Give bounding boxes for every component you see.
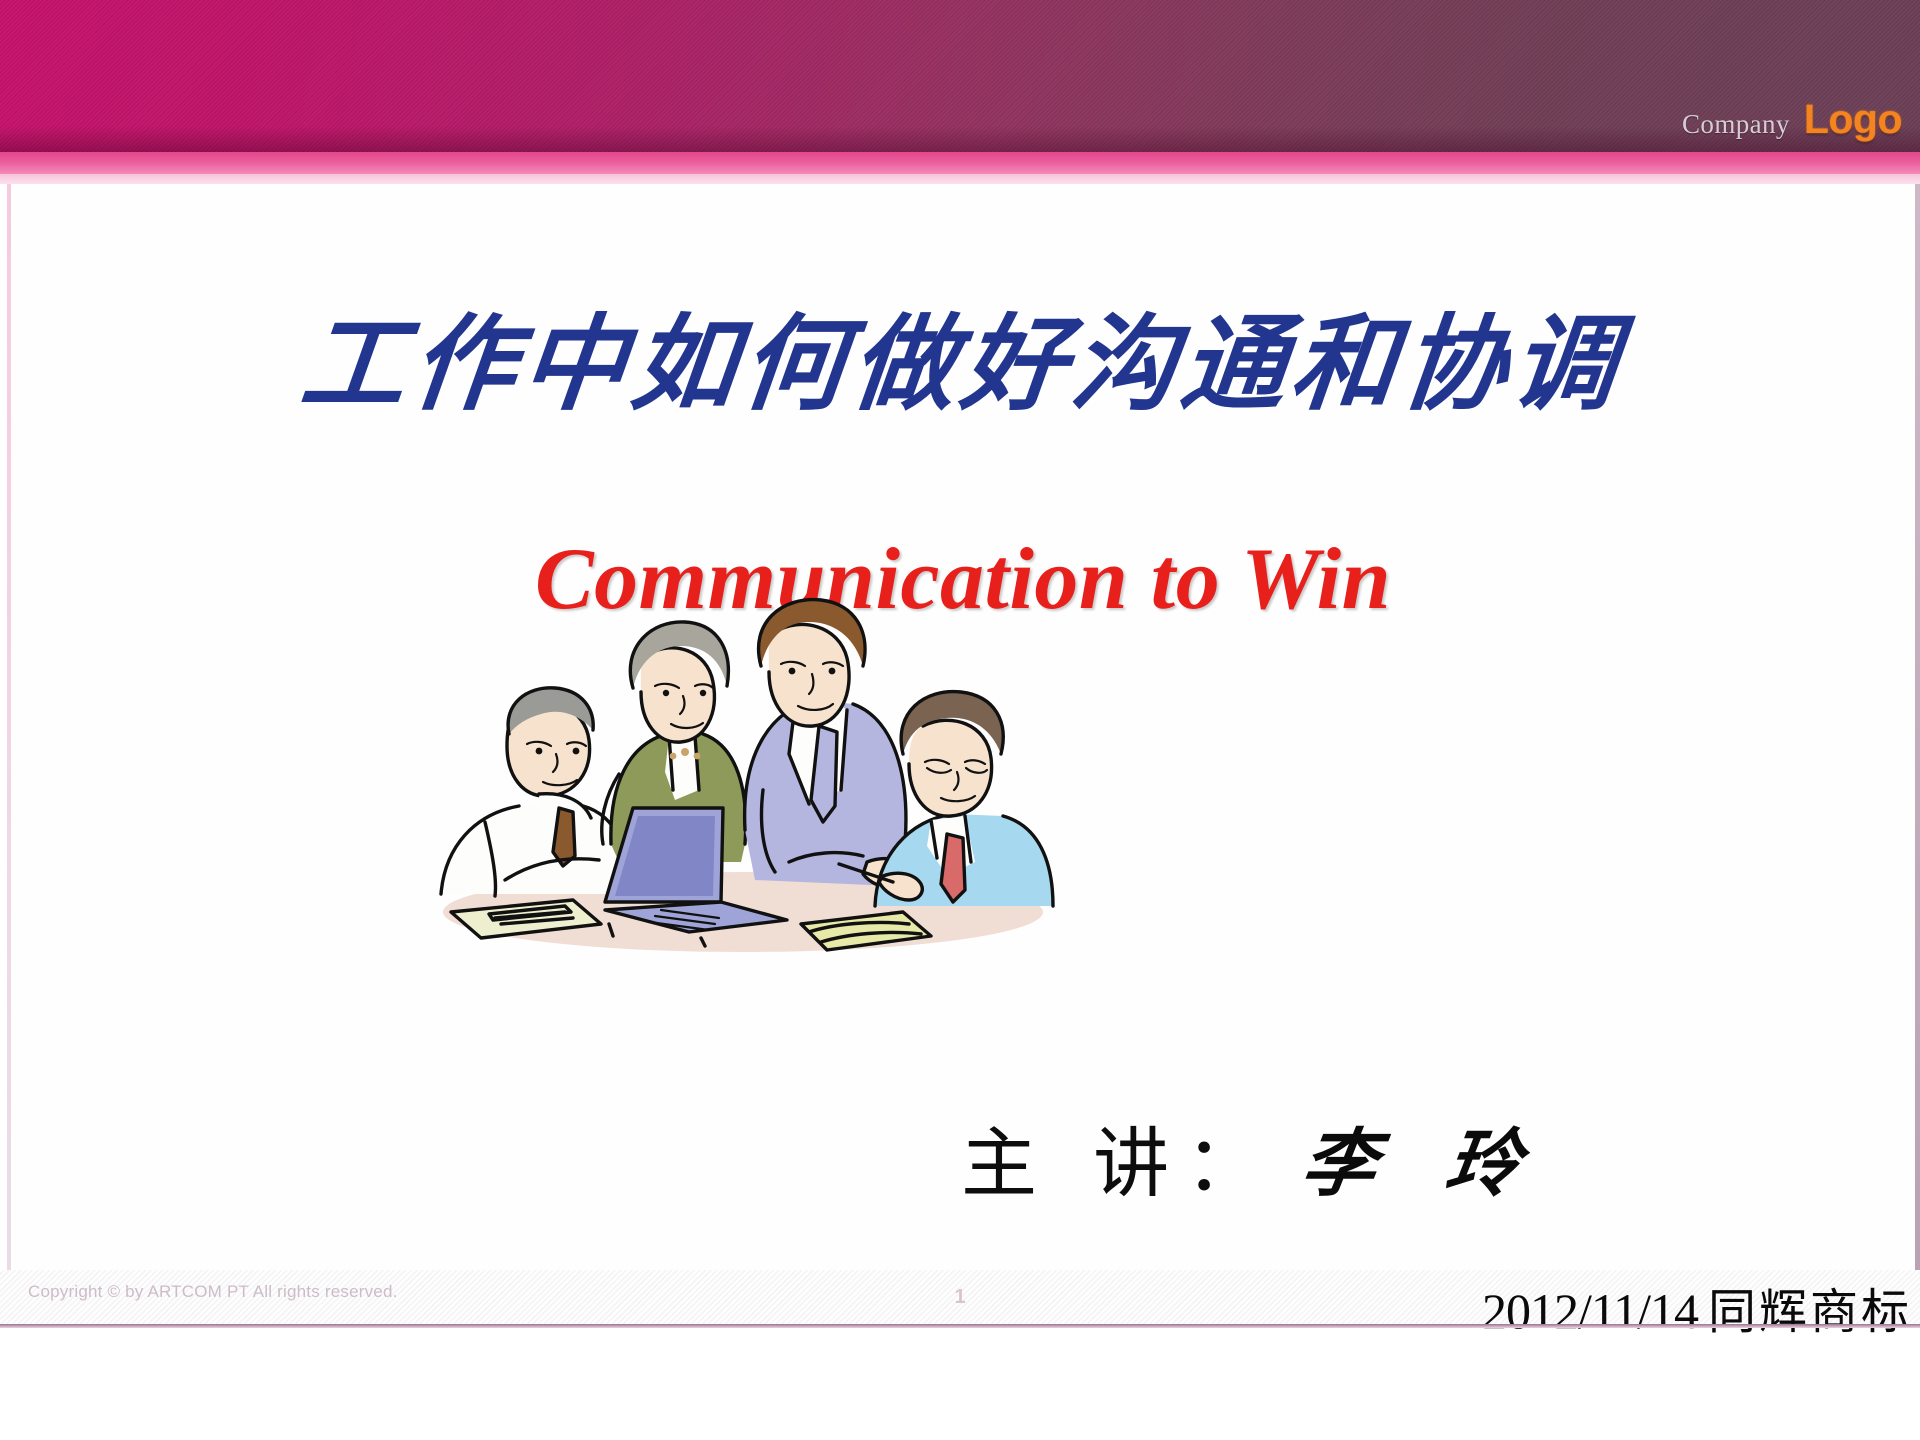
slide-content-area: 工作中如何做好沟通和协调 Communication to Win .ln { … bbox=[11, 184, 1915, 1270]
presentation-slide: Company Logo 工作中如何做好沟通和协调 Communication … bbox=[0, 0, 1920, 1440]
company-logo[interactable]: Company Logo bbox=[1682, 96, 1902, 143]
speaker-name: 李 玲 bbox=[1296, 1104, 1551, 1211]
banner-bottom-shadow bbox=[0, 126, 1920, 152]
slide-footer: Copyright © by ARTCOM PT All rights rese… bbox=[0, 1270, 1920, 1328]
left-edge-accent bbox=[0, 184, 7, 1270]
company-logo-label: Company bbox=[1682, 109, 1790, 140]
footer-date: 2012/11/14 bbox=[1482, 1282, 1698, 1340]
business-team-meeting-illustration: .ln { fill:none; stroke:#111; stroke-wid… bbox=[423, 594, 1063, 954]
slide-title-chinese: 工作中如何做好沟通和协调 bbox=[3, 279, 1920, 430]
slide-top-banner: Company Logo bbox=[0, 0, 1920, 152]
footer-right-group: 2012/11/14 同辉商标 bbox=[1482, 1272, 1912, 1342]
footer-brand: 同辉商标 bbox=[1708, 1272, 1912, 1342]
banner-pink-divider bbox=[0, 152, 1920, 174]
speaker-line: 主 讲： 李 玲 bbox=[961, 1102, 1543, 1212]
speaker-label: 主 讲： bbox=[961, 1102, 1277, 1212]
company-logo-word: Logo bbox=[1804, 96, 1902, 143]
banner-light-divider bbox=[0, 174, 1920, 184]
footer-bottom-highlight bbox=[0, 1324, 1920, 1328]
